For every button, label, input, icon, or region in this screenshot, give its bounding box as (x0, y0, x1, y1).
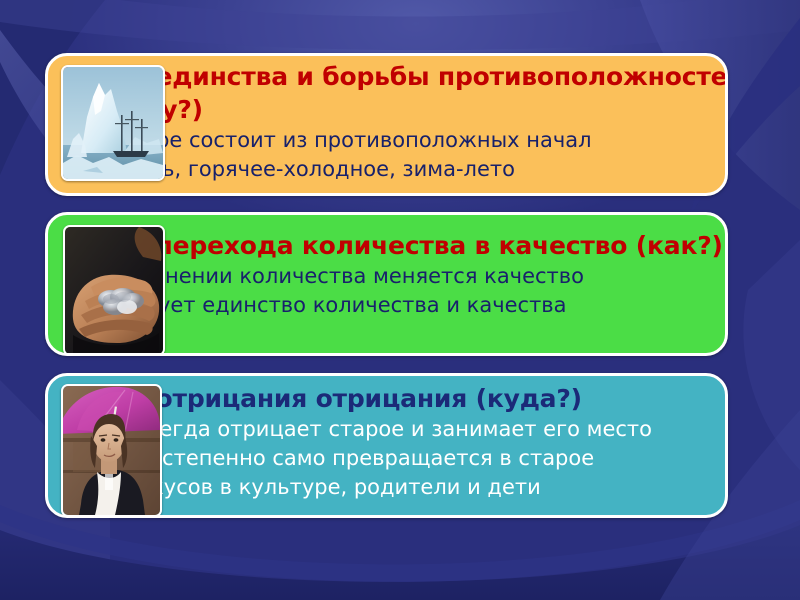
card-law-quantity-into-quality[interactable]: Закон перехода количества в качество (ка… (45, 212, 728, 356)
person-with-umbrella-photo (61, 384, 162, 515)
iceberg-ship-photo (61, 65, 165, 181)
hand-with-coins-photo (63, 225, 165, 353)
card-law-unity-struggle-opposites[interactable]: Закон единства и борьбы противоположност… (45, 53, 728, 196)
card-law-negation-of-negation[interactable]: Закон отрицания отрицания (куда?) Новое … (45, 373, 728, 518)
card-stack: Закон единства и борьбы противоположност… (0, 0, 800, 600)
